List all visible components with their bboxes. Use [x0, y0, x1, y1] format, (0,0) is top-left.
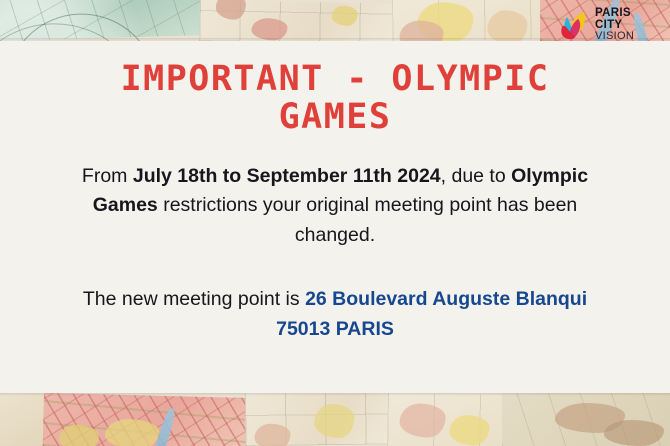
logo-wordmark: PARIS CITY VISION — [595, 8, 634, 42]
paris-city-vision-flame-icon — [558, 9, 590, 41]
poster-copy: IMPORTANT - OLYMPIC GAMES From July 18th… — [0, 41, 670, 345]
logo-line-paris: PARIS — [595, 8, 634, 20]
pink-city-plan-tile — [43, 393, 249, 446]
map-landmass — [332, 6, 358, 26]
green-nautical-chart-tile — [0, 0, 210, 41]
meeting-point-address: 26 Boulevard Auguste Blanqui 75013 PARIS — [276, 288, 587, 340]
address-lead: The new meeting point is — [83, 288, 305, 310]
bottom-map-decoration — [0, 393, 670, 446]
body-tail: restrictions your original meeting point… — [158, 194, 577, 246]
map-landmass — [314, 404, 354, 438]
cream-world-map-tile — [245, 393, 396, 446]
promo-poster: PARIS CITY VISION A brand of PARIS EXPER… — [0, 0, 670, 446]
map-landmass — [216, 0, 246, 20]
cream-world-map-tile — [199, 0, 400, 41]
body-mid: , due to — [441, 165, 511, 187]
logo-primary-lockup: PARIS CITY VISION — [558, 8, 634, 42]
strip-shadow — [0, 393, 670, 396]
mountain-range — [604, 420, 664, 446]
restriction-paragraph: From July 18th to September 11th 2024, d… — [0, 162, 670, 251]
park-area — [59, 424, 100, 446]
continent-map-tile — [387, 393, 508, 446]
date-range: July 18th to September 11th 2024 — [133, 165, 441, 187]
map-edge-tile — [0, 393, 48, 446]
park-area — [104, 419, 159, 446]
map-landmass — [399, 403, 446, 438]
map-landmass — [487, 10, 527, 41]
relief-map-tile — [502, 393, 670, 446]
meeting-point-paragraph: The new meeting point is 26 Boulevard Au… — [0, 285, 670, 345]
map-landmass — [254, 423, 290, 446]
body-lead: From — [82, 165, 133, 187]
map-landmass — [450, 415, 490, 446]
page-title: IMPORTANT - OLYMPIC GAMES — [0, 61, 670, 137]
